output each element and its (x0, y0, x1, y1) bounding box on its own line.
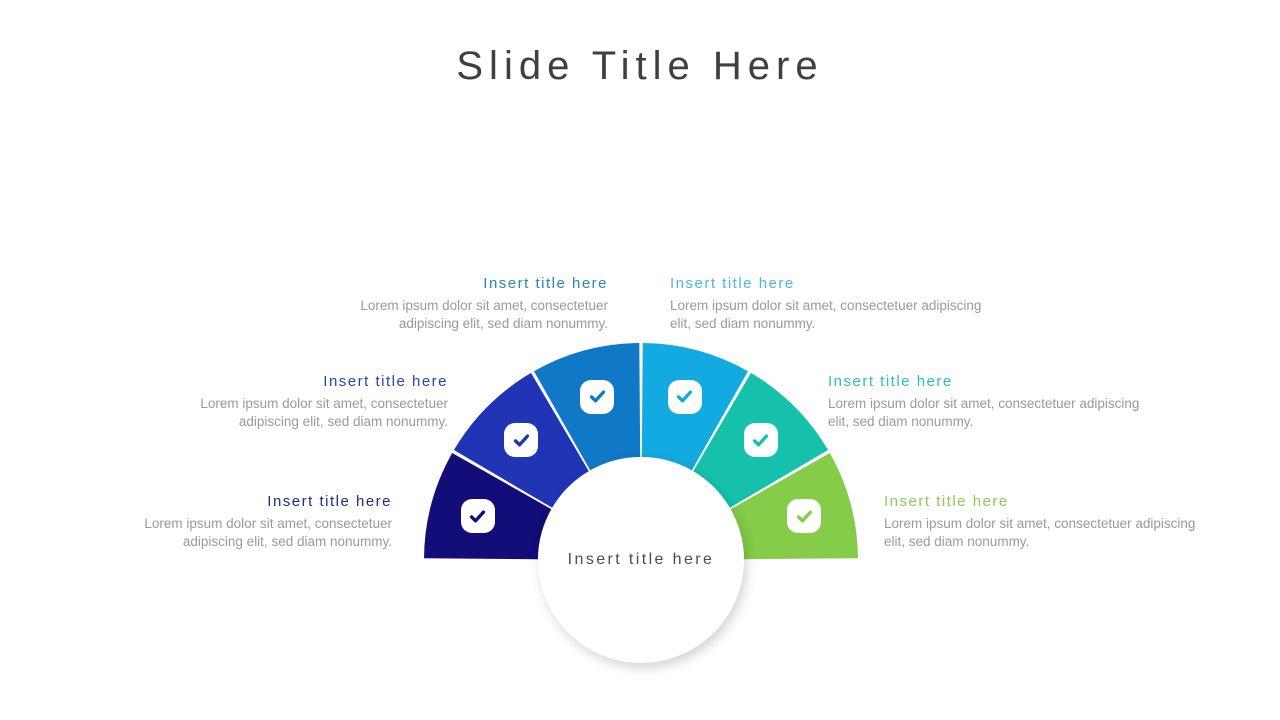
callout-6: Insert title here Lorem ipsum dolor sit … (884, 491, 1204, 550)
check-badge-2[interactable] (504, 423, 538, 457)
callout-3-body: Lorem ipsum dolor sit amet, consectetuer… (308, 297, 608, 333)
check-icon (588, 387, 607, 406)
center-circle-label: Insert title here (566, 547, 716, 573)
callout-5: Insert title here Lorem ipsum dolor sit … (828, 371, 1148, 430)
page-title: Slide Title Here (0, 44, 1280, 89)
callout-3: Insert title here Lorem ipsum dolor sit … (308, 273, 608, 332)
check-badge-6[interactable] (787, 499, 821, 533)
callout-4: Insert title here Lorem ipsum dolor sit … (670, 273, 990, 332)
callout-3-title: Insert title here (308, 273, 608, 295)
check-icon (675, 387, 694, 406)
check-badge-3[interactable] (580, 380, 614, 414)
callout-5-title: Insert title here (828, 371, 1148, 393)
callout-1-body: Lorem ipsum dolor sit amet, consectetuer… (92, 515, 392, 551)
check-icon (468, 507, 487, 526)
callout-6-body: Lorem ipsum dolor sit amet, consectetuer… (884, 515, 1204, 551)
check-icon (512, 431, 531, 450)
check-badge-4[interactable] (668, 380, 702, 414)
callout-6-title: Insert title here (884, 491, 1204, 513)
callout-1-title: Insert title here (92, 491, 392, 513)
check-badge-5[interactable] (744, 423, 778, 457)
callout-2: Insert title here Lorem ipsum dolor sit … (148, 371, 448, 430)
callout-2-title: Insert title here (148, 371, 448, 393)
callout-2-body: Lorem ipsum dolor sit amet, consectetuer… (148, 395, 448, 431)
callout-1: Insert title here Lorem ipsum dolor sit … (92, 491, 392, 550)
callout-5-body: Lorem ipsum dolor sit amet, consectetuer… (828, 395, 1148, 431)
check-badge-1[interactable] (461, 499, 495, 533)
callout-4-body: Lorem ipsum dolor sit amet, consectetuer… (670, 297, 990, 333)
check-icon (751, 431, 770, 450)
slide-canvas: Slide Title Here Ins (0, 0, 1280, 720)
center-circle[interactable]: Insert title here (538, 457, 744, 663)
check-icon (795, 507, 814, 526)
callout-4-title: Insert title here (670, 273, 990, 295)
